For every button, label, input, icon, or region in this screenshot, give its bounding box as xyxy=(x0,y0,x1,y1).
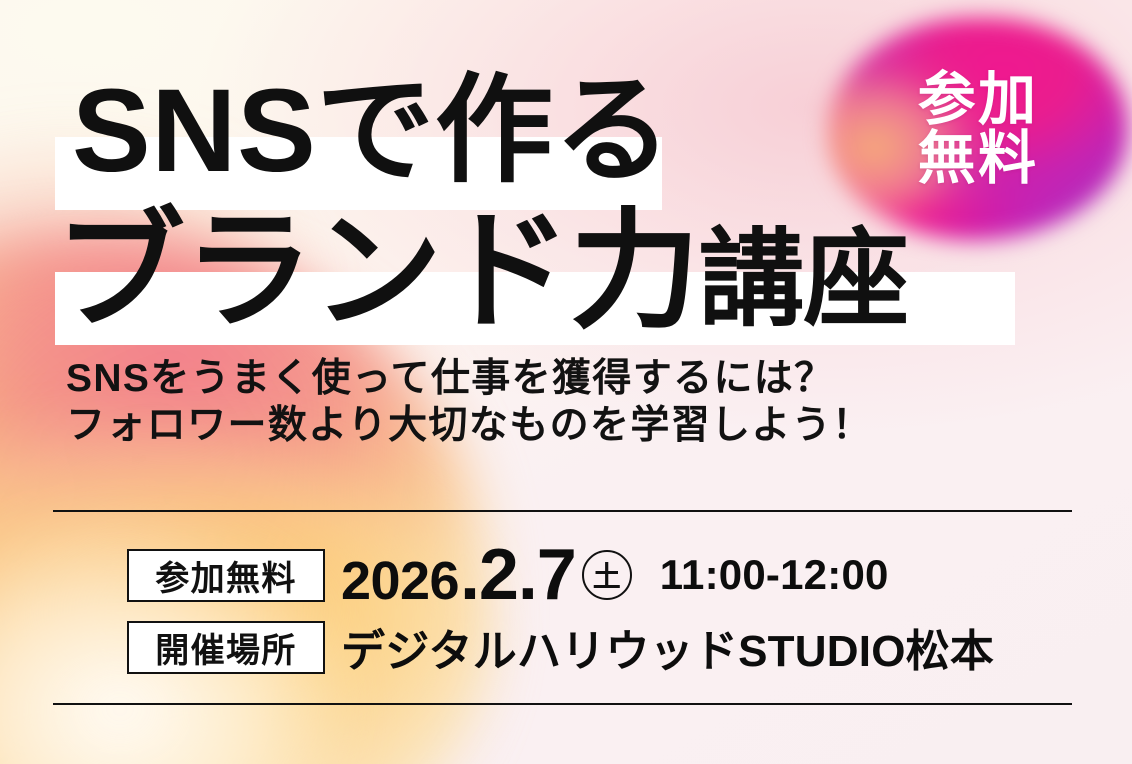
badge-text-line2: 無料 xyxy=(918,129,1039,188)
title-line-1: SNSで作る xyxy=(72,72,672,190)
fee-label-box: 参加無料 xyxy=(127,549,325,602)
venue-name: デジタルハリウッドSTUDIO松本 xyxy=(341,615,994,679)
badge-text-line1: 参加 xyxy=(918,70,1039,129)
subtitle-block: SNSをうまく使って仕事を獲得するには？ フォロワー数より大切なものを学習しよう… xyxy=(66,355,1026,449)
day-of-week-badge: 土 xyxy=(582,550,632,600)
title-line-2: ブランド力講座 xyxy=(55,206,908,345)
divider-top xyxy=(53,510,1072,512)
event-venue-row: 開催場所 デジタルハリウッドSTUDIO松本 xyxy=(127,618,1087,676)
title-line-2-suffix: 講座 xyxy=(699,221,908,339)
divider-bottom xyxy=(53,703,1072,705)
subtitle-line-2: フォロワー数より大切なものを学習しよう！ xyxy=(66,402,1026,449)
event-flyer: 参加 無料 SNSで作る ブランド力講座 SNSをうまく使って仕事を獲得するには… xyxy=(0,0,1132,764)
date-month-day: .2.7 xyxy=(460,534,576,616)
event-time: 11:00-12:00 xyxy=(660,551,889,599)
subtitle-line-1: SNSをうまく使って仕事を獲得するには？ xyxy=(66,355,1026,402)
event-date-row: 参加無料 2026 .2.7 土 11:00-12:00 xyxy=(127,544,1087,606)
title-line-2-main: ブランド力 xyxy=(55,198,699,344)
event-date: 2026 .2.7 土 xyxy=(341,534,632,616)
venue-label-box: 開催場所 xyxy=(127,621,325,674)
event-details: 参加無料 2026 .2.7 土 11:00-12:00 開催場所 デジタルハリ… xyxy=(127,544,1087,676)
date-year: 2026 xyxy=(341,550,459,612)
